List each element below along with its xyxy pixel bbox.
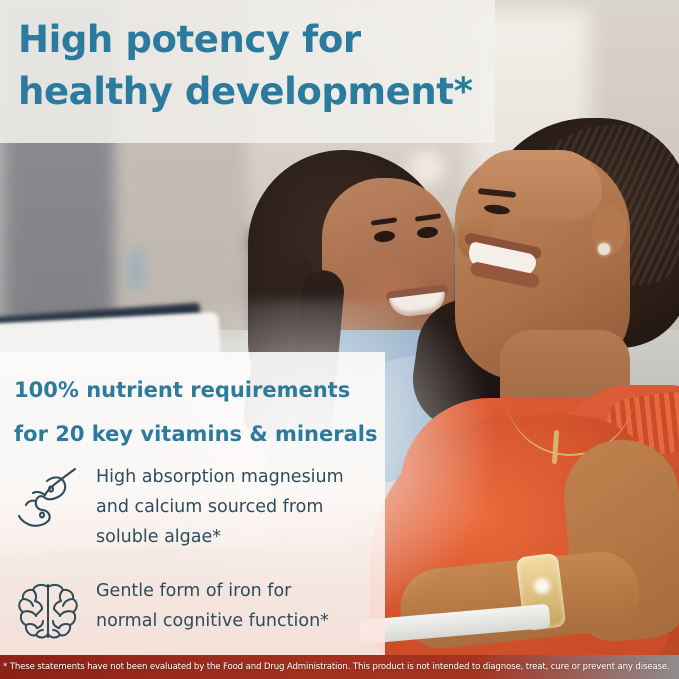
claim-line-1: 100% nutrient requirements (14, 368, 374, 412)
background-vase (128, 248, 144, 290)
product-ad-image: High potency for healthy development* 10… (0, 0, 679, 679)
bone-joint-icon (14, 460, 82, 534)
feature-row-magnesium: High absorption magnesium and calcium so… (14, 460, 344, 552)
brain-icon (14, 574, 82, 648)
feature-row-iron: Gentle form of iron for normal cognitive… (14, 574, 329, 648)
claim-line-2: for 20 key vitamins & minerals (14, 412, 374, 456)
disclaimer-bar: * These statements have not been evaluat… (0, 655, 679, 679)
benefits-panel: 100% nutrient requirements for 20 key vi… (0, 352, 385, 655)
disclaimer-text: * These statements have not been evaluat… (0, 662, 670, 672)
feature-text-magnesium: High absorption magnesium and calcium so… (96, 460, 344, 552)
feature-2-line-1: Gentle form of iron for (96, 576, 329, 606)
headline-panel: High potency for healthy development* (0, 0, 495, 143)
feature-1-line-2: and calcium sourced from (96, 492, 344, 522)
woman-earring (598, 243, 610, 255)
nutrient-claim: 100% nutrient requirements for 20 key vi… (14, 368, 374, 456)
feature-text-iron: Gentle form of iron for normal cognitive… (96, 574, 329, 636)
feature-1-line-3: soluble algae* (96, 522, 344, 552)
feature-1-line-1: High absorption magnesium (96, 462, 344, 492)
headline-line-2: healthy development* (18, 66, 488, 118)
headline-line-1: High potency for (18, 14, 488, 66)
feature-2-line-2: normal cognitive function* (96, 606, 329, 636)
page-title: High potency for healthy development* (18, 14, 488, 118)
